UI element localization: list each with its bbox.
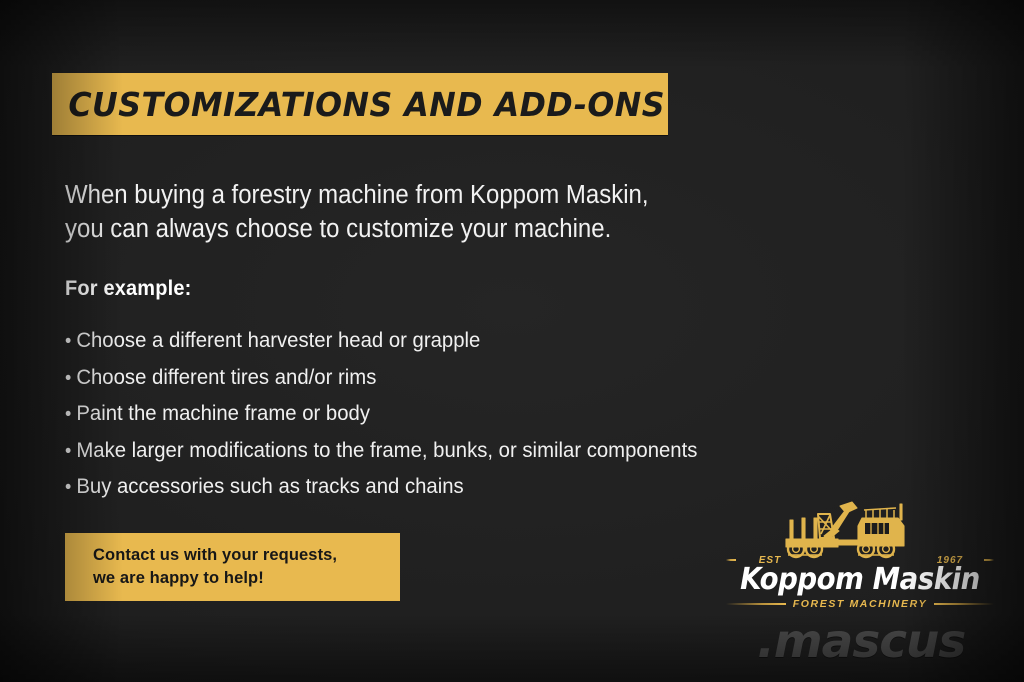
bullet-marker-icon: • (65, 362, 76, 397)
list-item: •Paint the machine frame or body (65, 396, 783, 433)
list-item: •Choose a different harvester head or gr… (65, 323, 783, 360)
forwarder-machine-icon (778, 498, 938, 560)
list-item-label: Buy accessories such as tracks and chain… (76, 474, 463, 498)
bullet-marker-icon: • (65, 435, 76, 470)
list-item: •Choose different tires and/or rims (65, 360, 783, 397)
logo-tagline-row: FOREST MACHINERY (726, 598, 994, 610)
tagline-rule-left (726, 603, 786, 605)
est-rule-right (984, 559, 994, 561)
list-item-label: Make larger modifications to the frame, … (76, 438, 697, 462)
logo-tagline: FOREST MACHINERY (793, 598, 928, 610)
title-banner: CUSTOMIZATIONS AND ADD-ONS (52, 73, 668, 135)
intro-line-2: you can always choose to customize your … (65, 212, 742, 246)
for-example-label: For example: (65, 277, 191, 301)
promotional-slide: CUSTOMIZATIONS AND ADD-ONS When buying a… (0, 0, 1024, 682)
tagline-rule-right (934, 603, 994, 605)
bullet-marker-icon: • (65, 398, 76, 433)
logo-wordmark: Koppom Maskin (737, 562, 984, 597)
list-item-label: Choose different tires and/or rims (76, 365, 376, 389)
list-item: •Buy accessories such as tracks and chai… (65, 469, 783, 506)
page-title: CUSTOMIZATIONS AND ADD-ONS (52, 85, 665, 124)
est-rule-left (726, 559, 736, 561)
customization-options-list: •Choose a different harvester head or gr… (65, 323, 783, 506)
list-item: •Make larger modifications to the frame,… (65, 433, 783, 470)
bullet-marker-icon: • (65, 471, 76, 506)
contact-cta-box[interactable]: Contact us with your requests, we are ha… (65, 533, 400, 601)
mascus-watermark: .mascus (757, 614, 965, 668)
koppom-maskin-logo: EST 1967 Koppom Maskin FOREST MACHINERY (726, 498, 994, 610)
intro-paragraph: When buying a forestry machine from Kopp… (65, 178, 742, 246)
list-item-label: Paint the machine frame or body (76, 401, 370, 425)
cta-line-1: Contact us with your requests, (93, 544, 400, 567)
cta-line-2: we are happy to help! (93, 567, 400, 590)
bullet-marker-icon: • (65, 325, 76, 360)
intro-line-1: When buying a forestry machine from Kopp… (65, 178, 742, 212)
list-item-label: Choose a different harvester head or gra… (76, 328, 480, 352)
